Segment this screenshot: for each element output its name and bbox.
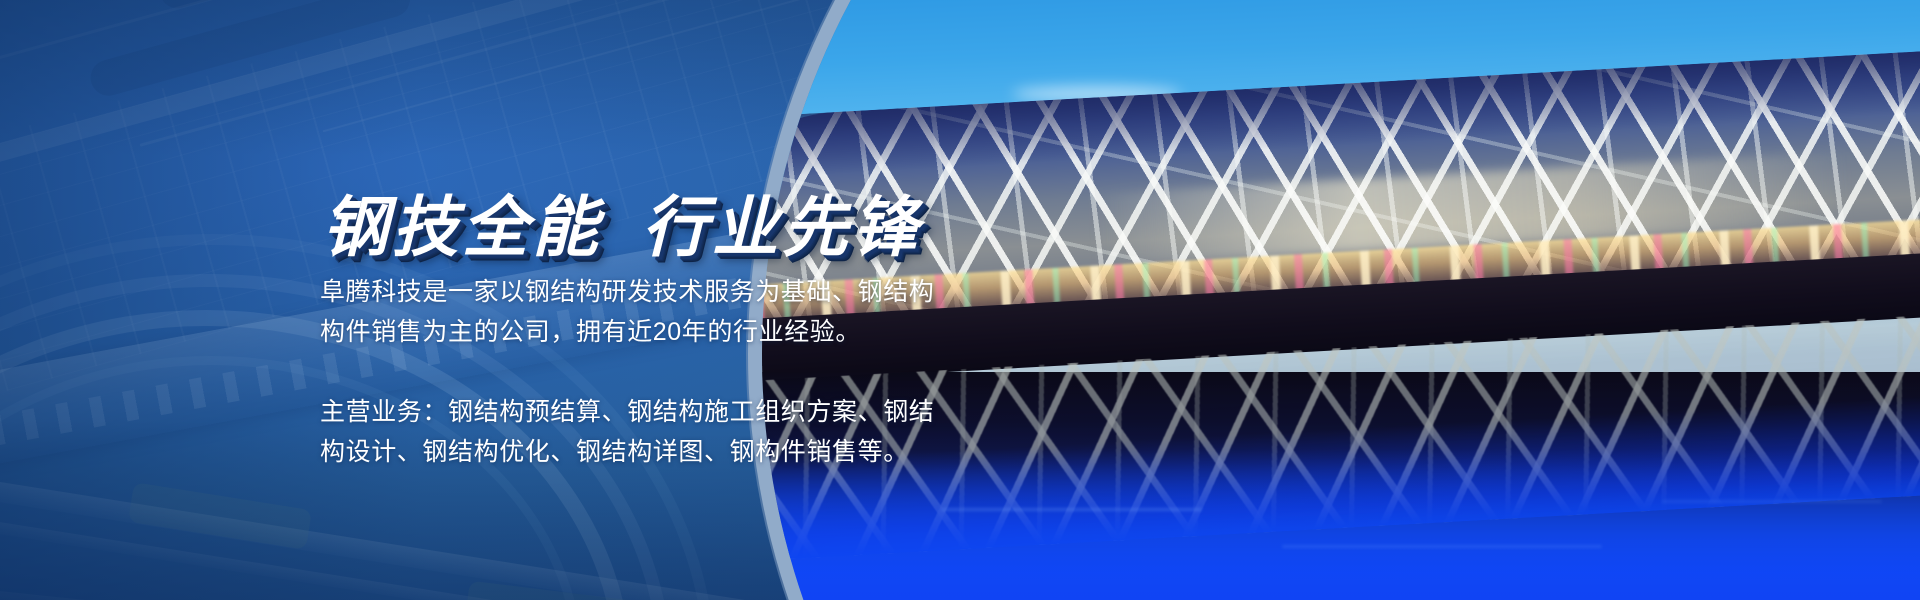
- banner-content: 钢技全能行业先锋 阜腾科技是一家以钢结构研发技术服务为基础、钢结构构件销售为主的…: [0, 0, 1000, 600]
- hero-banner: 钢技全能行业先锋 阜腾科技是一家以钢结构研发技术服务为基础、钢结构构件销售为主的…: [0, 0, 1920, 600]
- banner-description: 阜腾科技是一家以钢结构研发技术服务为基础、钢结构构件销售为主的公司，拥有近20年…: [320, 272, 940, 472]
- headline-part-2: 行业先锋: [642, 190, 922, 264]
- description-paragraph-2: 主营业务：钢结构预结算、钢结构施工组织方案、钢结构设计、钢结构优化、钢结构详图、…: [320, 392, 940, 472]
- banner-headline: 钢技全能行业先锋: [322, 174, 922, 270]
- description-paragraph-1: 阜腾科技是一家以钢结构研发技术服务为基础、钢结构构件销售为主的公司，拥有近20年…: [320, 272, 940, 352]
- headline-part-1: 钢技全能: [322, 190, 602, 264]
